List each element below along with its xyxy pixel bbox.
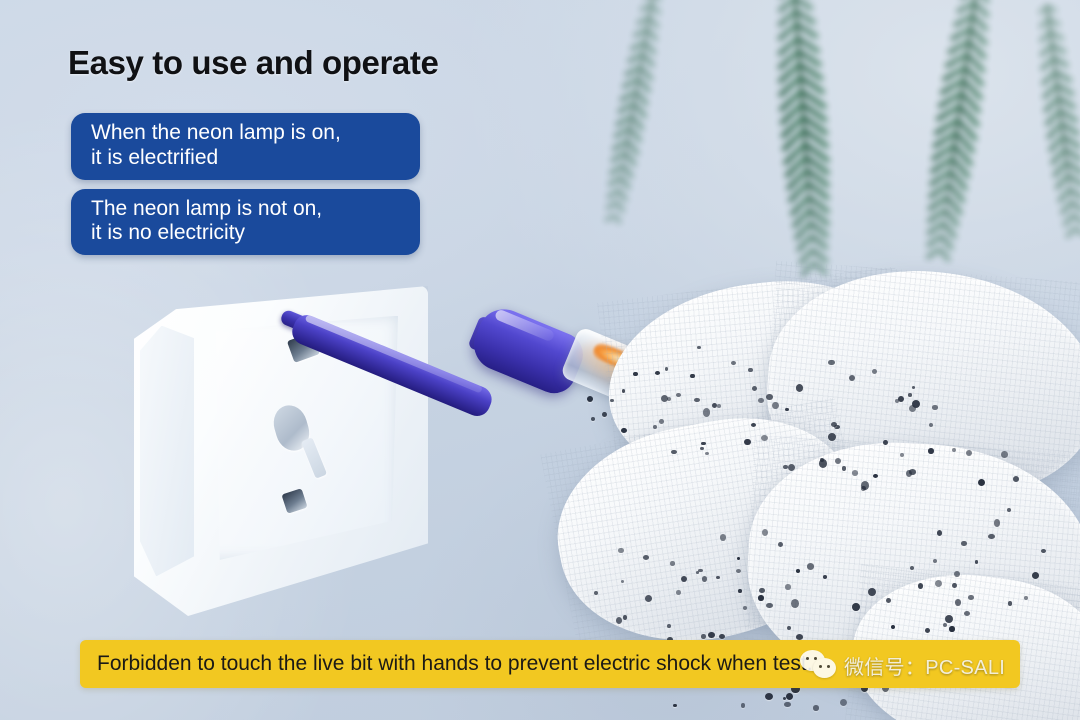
glove-grip-dot <box>994 519 1001 526</box>
glove-grip-dot <box>667 624 671 628</box>
glove-grip-dot <box>744 439 750 445</box>
glove-grip-dot <box>673 704 677 707</box>
glove-grip-dot <box>716 576 719 579</box>
glove-grip-dot <box>933 559 937 563</box>
glove-grip-dot <box>872 369 877 374</box>
glove-grip-dot <box>964 611 970 616</box>
wechat-icon <box>800 650 838 680</box>
glove-grip-dot <box>731 361 736 366</box>
glove-grip-dot <box>783 465 787 469</box>
glove-grip-dot <box>717 404 721 408</box>
glove-grip-dot <box>912 386 916 389</box>
glove-grip-dot <box>701 634 706 638</box>
hanging-plant-fronds <box>620 0 1080 304</box>
wechat-watermark-text: 微信号：PC-SALI <box>844 651 1005 680</box>
glove-grip-dot <box>978 479 985 486</box>
wechat-eye <box>819 665 822 668</box>
glove-grip-dot <box>975 560 979 563</box>
glove-grip-dot <box>918 583 923 588</box>
callout-line-2: it is no electricity <box>91 221 404 246</box>
glove-grip-dot <box>840 699 847 706</box>
glove-grip-dot <box>751 423 756 427</box>
glove-grip-dot <box>929 423 933 427</box>
glove-grip-dot <box>1001 451 1007 458</box>
glove-grip-dot <box>610 399 614 402</box>
plant-frond <box>760 0 846 275</box>
glove-grip-dot <box>676 393 681 397</box>
glove-grip-dot <box>784 702 790 707</box>
glove-grip-dot <box>616 617 623 624</box>
glove-grip-dot <box>758 398 764 403</box>
glove-grip-dot <box>762 529 768 536</box>
glove-grip-dot <box>591 417 595 421</box>
glove-grip-dot <box>737 557 740 561</box>
glove-grip-dot <box>671 450 677 455</box>
glove-grip-dot <box>778 542 783 547</box>
glove-grip-dot <box>783 697 786 700</box>
glove-grip-dot <box>1032 572 1039 578</box>
glove-grip-dot <box>697 346 701 349</box>
glove-grip-dot <box>752 386 757 391</box>
glove-grip-dot <box>861 481 869 490</box>
glove-grip-dot <box>952 583 957 588</box>
glove-grip-dot <box>835 458 841 464</box>
glove-grip-dot <box>758 595 763 600</box>
callout-line-1: When the neon lamp is on, <box>91 121 404 146</box>
glove-grip-dot <box>935 580 942 587</box>
glove-grip-dot <box>868 588 876 596</box>
plant-frond <box>1024 1 1080 241</box>
glove-grip-dot <box>594 591 598 595</box>
glove-grip-dot <box>937 530 942 536</box>
callout-list: When the neon lamp is on, it is electrif… <box>71 113 420 255</box>
glove-grip-dot <box>759 588 765 593</box>
glove-grip-dot <box>943 623 947 627</box>
glove-grip-dot <box>788 464 795 471</box>
glove-grip-dot <box>618 548 624 553</box>
glove-grip-dot <box>653 425 657 429</box>
plant-frond <box>909 0 1010 263</box>
glove-grip-dot <box>703 408 710 416</box>
glove-grip-dot <box>785 408 789 412</box>
glove-grip-dot <box>852 470 858 475</box>
glove-grip-dot <box>761 435 768 441</box>
glove-grip-dot <box>701 442 706 446</box>
glove-grip-dot <box>791 599 799 608</box>
glove-grip-dot <box>898 396 904 402</box>
glove-grip-dot <box>925 628 930 633</box>
glove-grip-dot <box>670 561 675 565</box>
glove-grip-dot <box>621 428 627 434</box>
glove-grip-dot <box>690 374 694 379</box>
glove-grip-dot <box>909 405 917 412</box>
glove-grip-dot <box>719 634 726 640</box>
glove-grip-dot <box>623 615 627 619</box>
glove-grip-dot <box>741 703 745 707</box>
glove-grip-dot <box>705 452 709 455</box>
glove-grip-dot <box>949 626 954 632</box>
glove-grip-dot <box>587 396 593 402</box>
glove-grip-dot <box>645 595 652 602</box>
wechat-bubble-small <box>813 658 836 678</box>
wechat-watermark: 微信号：PC-SALI <box>800 648 1005 682</box>
glove-grip-dot <box>886 598 891 603</box>
glove-grip-dot <box>823 575 827 578</box>
glove-grip-dot <box>819 459 827 468</box>
glove-grip-dot <box>895 399 900 403</box>
glove-grip-dot <box>1008 601 1012 605</box>
glove-grip-dot <box>787 626 791 631</box>
glove-grip-dot <box>828 433 836 441</box>
glove-grip-dot <box>700 447 704 451</box>
glove-grip-dot <box>766 394 773 401</box>
glove-grip-dot <box>928 448 934 453</box>
glove-grip-dot <box>665 367 669 371</box>
glove-grip-dot <box>842 466 847 471</box>
glove-grip-dot <box>966 450 972 456</box>
glove-grip-dot <box>748 368 752 372</box>
glove-grip-dot <box>906 470 912 477</box>
glove-grip-dot <box>813 705 818 710</box>
glove-grip-dot <box>910 566 914 570</box>
callout-lamp-on: When the neon lamp is on, it is electrif… <box>71 113 420 180</box>
plant-needle <box>647 16 660 29</box>
glove-grip-dot <box>908 393 912 396</box>
glove-grip-dot <box>786 693 793 700</box>
page-title: Easy to use and operate <box>68 44 438 82</box>
glove-grip-dot <box>807 563 815 570</box>
callout-line-1: The neon lamp is not on, <box>91 197 404 222</box>
product-photo: SALI <box>0 0 1080 720</box>
socket-bevel <box>140 326 194 577</box>
callout-line-2: it is electrified <box>91 146 404 171</box>
glove-grip-dot <box>873 474 878 478</box>
glove-grip-dot <box>766 603 773 608</box>
glove-grip-dot <box>681 576 687 582</box>
glove-grip-dot <box>696 571 699 574</box>
glove-grip-dot <box>988 534 994 539</box>
glove-grip-dot <box>743 606 747 609</box>
glove-grip-dot <box>708 632 714 638</box>
glove-grip-dot <box>676 590 682 595</box>
glove-grip-dot <box>702 576 707 582</box>
plant-needle <box>617 188 629 202</box>
glove-grip-dot <box>1024 596 1027 600</box>
callout-lamp-off: The neon lamp is not on, it is no electr… <box>71 189 420 256</box>
glove-grip-dot <box>655 371 660 375</box>
wechat-eye <box>814 657 817 660</box>
glove-grip-dot <box>602 412 607 417</box>
glove-grip-dot <box>796 384 803 391</box>
glove-grip-dot <box>772 402 779 409</box>
glove-grip-dot <box>633 372 638 377</box>
glove-grip-dot <box>883 440 888 446</box>
glove-grip-dot <box>891 625 895 629</box>
glove-grip-dot <box>643 555 649 560</box>
glove-grip-dot <box>968 595 973 600</box>
glove-grip-dot <box>852 603 859 611</box>
glove-grip-dot <box>667 397 671 401</box>
glove-grip-dot <box>961 541 967 547</box>
glove-grip-dot <box>952 448 956 452</box>
glove-grip-dot <box>828 360 834 366</box>
glove-grip-dot <box>955 599 961 605</box>
glove-grip-dot <box>622 389 626 393</box>
glove-grip-dot <box>954 571 960 577</box>
glove-grip-dot <box>831 422 837 427</box>
glove-grip-dot <box>720 534 727 541</box>
tester-shaft <box>288 311 495 420</box>
glove-grip-dot <box>796 634 803 640</box>
glove-grip-dot <box>659 419 664 424</box>
glove-grip-dot <box>736 569 741 573</box>
glove-grip-dot <box>621 580 624 583</box>
glove-grip-dot <box>738 589 741 593</box>
glove-grip-dot <box>849 375 855 381</box>
glove-grip-dot <box>1013 476 1019 482</box>
wechat-eye <box>806 657 809 660</box>
glove-grip-dot <box>1007 508 1011 512</box>
glove-grip-dot <box>765 693 773 700</box>
glove-grip-dot <box>694 398 700 403</box>
glove-grip-dot <box>785 584 790 589</box>
glove-grip-dot <box>945 615 953 623</box>
plant-needle <box>649 3 661 15</box>
warning-banner-text: Forbidden to touch the live bit with han… <box>97 652 813 676</box>
glove-grip-dot <box>932 405 937 409</box>
glove-grip-dot <box>1041 549 1046 553</box>
glove-grip-dot <box>796 569 800 573</box>
wechat-eye <box>827 665 830 668</box>
glove-grip-dot <box>900 453 905 457</box>
